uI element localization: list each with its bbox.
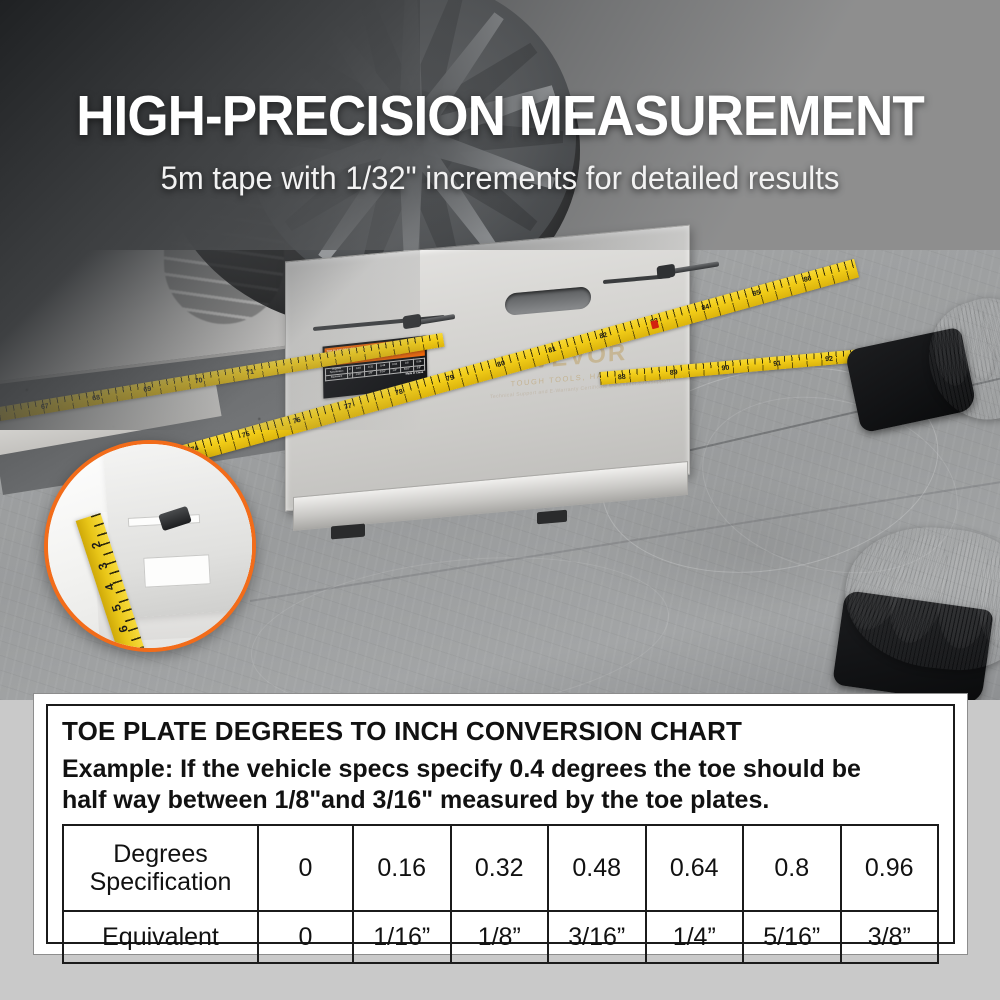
page-title: HIGH-PRECISION MEASUREMENT xyxy=(35,88,965,145)
page-subtitle: 5m tape with 1/32" increments for detail… xyxy=(15,160,985,197)
conversion-chart-panel: TOE PLATE DEGREES TO INCH CONVERSION CHA… xyxy=(33,693,968,955)
toe-plate-foot xyxy=(537,510,567,525)
degrees-cell-6: 0.96 xyxy=(841,825,939,911)
tape-number: 82 xyxy=(599,332,608,341)
table-row-degrees: Degrees Specification 0 0.16 0.32 0.48 0… xyxy=(63,825,938,911)
conversion-table: Degrees Specification 0 0.16 0.32 0.48 0… xyxy=(62,824,939,964)
product-banner-image: 205/55 R16 TOE PLATE DEGREES TO INCH CON… xyxy=(0,0,1000,1000)
row-label-equivalent: Equivalent xyxy=(63,911,258,963)
row-label-degrees-line2: Specification xyxy=(64,868,257,896)
chart-example-line-1: Example: If the vehicle specs specify 0.… xyxy=(62,754,939,785)
degrees-cell-5: 0.8 xyxy=(743,825,841,911)
tape-number: 81 xyxy=(548,346,557,355)
tape-number: 88 xyxy=(618,374,626,382)
row-label-degrees: Degrees Specification xyxy=(63,825,258,911)
product-photo: 205/55 R16 TOE PLATE DEGREES TO INCH CON… xyxy=(0,0,1000,700)
table-row-equivalent: Equivalent 0 1/16” 1/8” 3/16” 1/4” 5/16”… xyxy=(63,911,938,963)
conversion-chart-inner: TOE PLATE DEGREES TO INCH CONVERSION CHA… xyxy=(46,704,955,944)
toe-plate-foot xyxy=(331,524,365,540)
chart-title: TOE PLATE DEGREES TO INCH CONVERSION CHA… xyxy=(62,716,939,747)
detail-inset-circle: 23456789 xyxy=(44,440,256,652)
equivalent-cell-4: 1/4” xyxy=(646,911,744,963)
row-label-degrees-line1: Degrees xyxy=(64,840,257,868)
inset-plate-flange xyxy=(143,554,210,587)
equivalent-cell-3: 3/16” xyxy=(548,911,646,963)
tape-number: 80 xyxy=(497,360,506,369)
degrees-cell-2: 0.32 xyxy=(451,825,549,911)
tape-number: 89 xyxy=(670,369,678,377)
tape-number: 79 xyxy=(446,374,455,383)
tape-number: 90 xyxy=(721,365,729,373)
equivalent-cell-2: 1/8” xyxy=(451,911,549,963)
tape-number: 91 xyxy=(773,360,781,368)
tape-number: 92 xyxy=(825,356,833,364)
chart-example-line-2: half way between 1/8"and 3/16" measured … xyxy=(62,785,939,816)
degrees-cell-1: 0.16 xyxy=(353,825,451,911)
equivalent-cell-5: 5/16” xyxy=(743,911,841,963)
equivalent-cell-6: 3/8” xyxy=(841,911,939,963)
tape-number: 75 xyxy=(241,431,250,440)
equivalent-cell-0: 0 xyxy=(258,911,353,963)
degrees-cell-3: 0.48 xyxy=(548,825,646,911)
tape-number: 84 xyxy=(701,303,710,312)
degrees-cell-0: 0 xyxy=(258,825,353,911)
equivalent-cell-1: 1/16” xyxy=(353,911,451,963)
tape-number: 85 xyxy=(752,289,761,298)
left-dark-gradient xyxy=(0,0,420,430)
degrees-cell-4: 0.64 xyxy=(646,825,744,911)
tape-number: 86 xyxy=(803,275,812,284)
